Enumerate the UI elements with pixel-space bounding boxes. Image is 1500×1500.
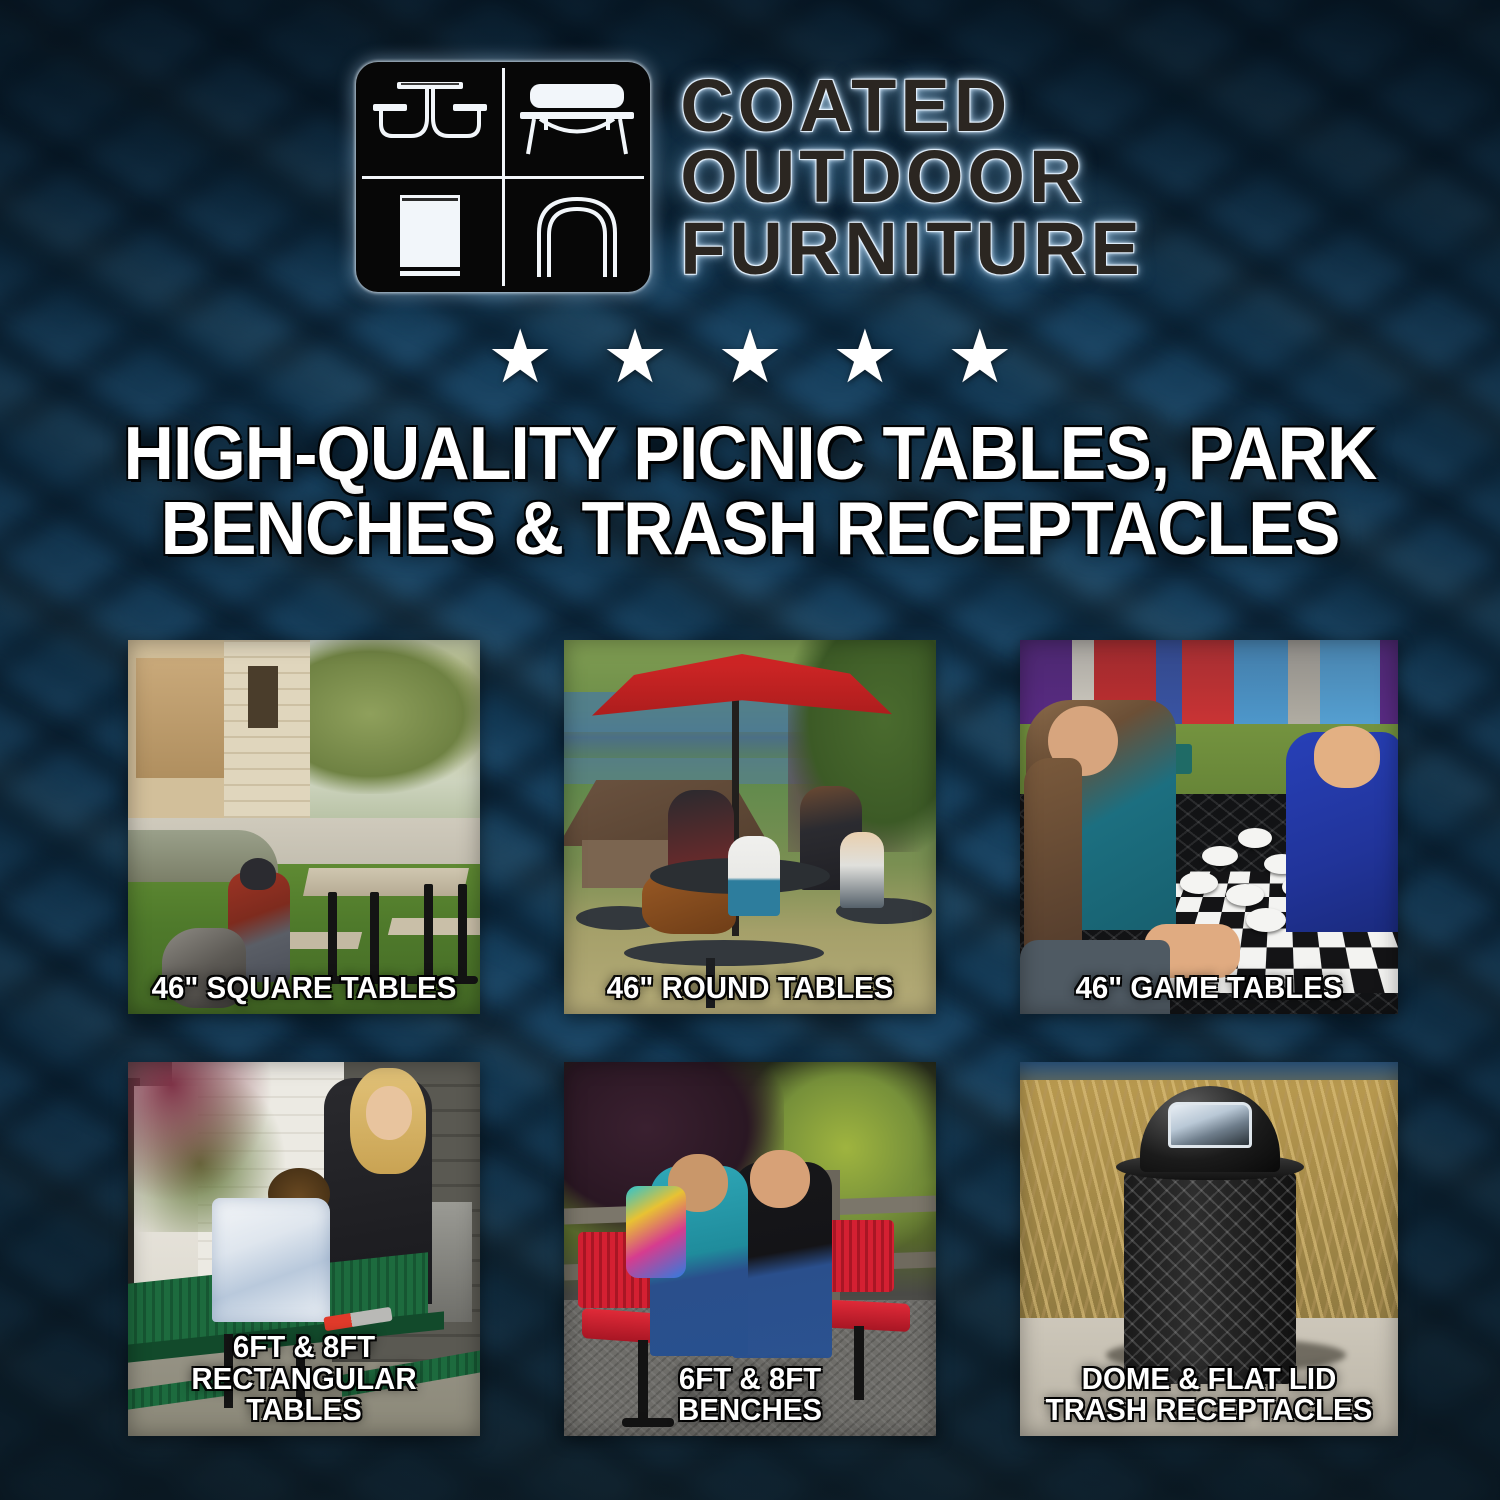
product-caption-line1: 6FT & 8FT bbox=[679, 1361, 821, 1396]
picnic-table-icon bbox=[356, 62, 503, 177]
product-caption-line2: BENCHES bbox=[573, 1394, 926, 1426]
product-tile-trash-receptacles[interactable]: DOME & FLAT LID TRASH RECEPTACLES bbox=[1020, 1062, 1398, 1436]
product-tile-square-tables[interactable]: 46" SQUARE TABLES bbox=[128, 640, 480, 1014]
brand-wordmark: COATED OUTDOOR FURNITURE bbox=[680, 71, 1144, 284]
product-caption: DOME & FLAT LID TRASH RECEPTACLES bbox=[1029, 1363, 1388, 1426]
product-photo-round-tables bbox=[564, 640, 936, 1014]
park-bench-icon bbox=[503, 62, 650, 177]
brand-name-line1: COATED bbox=[680, 71, 1144, 141]
star-rating: ★ ★ ★ ★ ★ bbox=[0, 320, 1500, 394]
product-grid: 46" SQUARE TABLES bbox=[128, 640, 1376, 1436]
bike-rack-arch-icon bbox=[503, 177, 650, 292]
product-tile-game-tables[interactable]: 46" GAME TABLES bbox=[1020, 640, 1398, 1014]
product-caption-line1: 46" SQUARE TABLES bbox=[152, 970, 457, 1005]
product-caption-line1: DOME & FLAT LID bbox=[1082, 1361, 1337, 1396]
product-caption-line1: 46" ROUND TABLES bbox=[607, 970, 894, 1005]
product-caption: 6FT & 8FT RECTANGULAR TABLES bbox=[137, 1331, 471, 1426]
promo-banner: COATED OUTDOOR FURNITURE ★ ★ ★ ★ ★ HIGH-… bbox=[0, 0, 1500, 1500]
product-caption: 6FT & 8FT BENCHES bbox=[573, 1363, 926, 1426]
headline-line1: HIGH-QUALITY PICNIC TABLES, PARK bbox=[53, 416, 1448, 491]
product-caption-line1: 6FT & 8FT bbox=[233, 1329, 375, 1364]
headline-line2: BENCHES & TRASH RECEPTACLES bbox=[53, 491, 1448, 566]
product-photo-square-tables bbox=[128, 640, 480, 1014]
product-tile-round-tables[interactable]: 46" ROUND TABLES bbox=[564, 640, 936, 1014]
brand-name-line3: FURNITURE bbox=[680, 214, 1144, 284]
product-caption-line1: 46" GAME TABLES bbox=[1075, 970, 1342, 1005]
product-caption: 46" ROUND TABLES bbox=[573, 972, 926, 1004]
product-tile-rectangular-tables[interactable]: 6FT & 8FT RECTANGULAR TABLES bbox=[128, 1062, 480, 1436]
brand-name-line2: OUTDOOR bbox=[680, 142, 1144, 212]
product-caption: 46" GAME TABLES bbox=[1029, 972, 1388, 1004]
brand-logo: COATED OUTDOOR FURNITURE bbox=[0, 0, 1500, 292]
product-caption-line2: TRASH RECEPTACLES bbox=[1029, 1394, 1388, 1426]
product-caption: 46" SQUARE TABLES bbox=[137, 972, 471, 1004]
logo-icon-grid bbox=[356, 62, 650, 292]
trash-receptacle-icon bbox=[356, 177, 503, 292]
product-caption-line2: RECTANGULAR TABLES bbox=[137, 1363, 471, 1426]
product-tile-benches[interactable]: 6FT & 8FT BENCHES bbox=[564, 1062, 936, 1436]
product-photo-game-tables bbox=[1020, 640, 1398, 1014]
page-title: HIGH-QUALITY PICNIC TABLES, PARK BENCHES… bbox=[53, 416, 1448, 566]
